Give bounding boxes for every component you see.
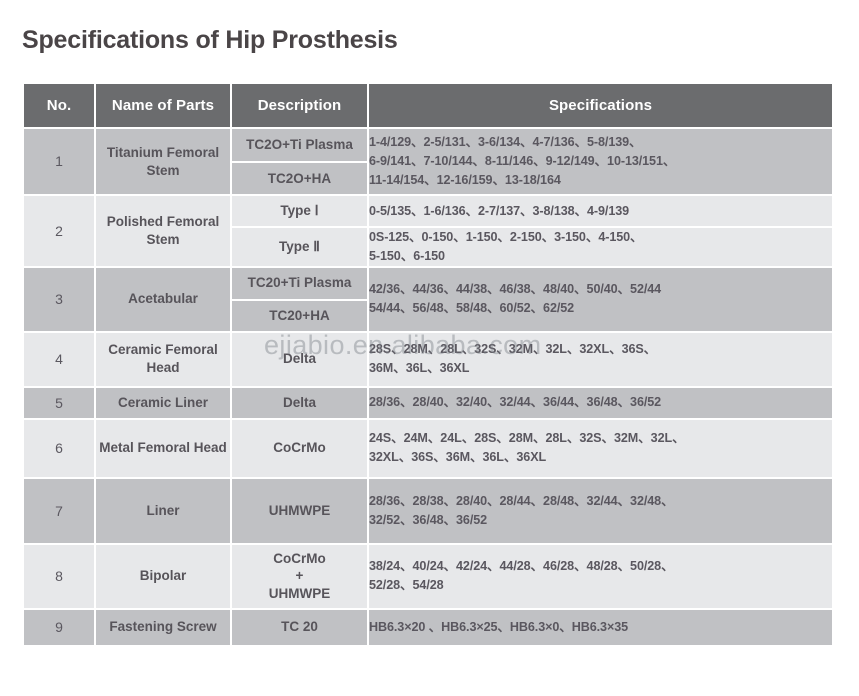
row-number: 1 <box>23 128 95 195</box>
part-name: Ceramic Liner <box>95 387 231 419</box>
part-description: TC20+HA <box>231 300 368 332</box>
part-specifications: HB6.3×20 、HB6.3×25、HB6.3×0、HB6.3×35 <box>368 609 833 646</box>
spec-line: 1-4/129、2-5/131、3-6/134、4-7/136、5-8/139、 <box>369 133 832 152</box>
row-number: 9 <box>23 609 95 646</box>
page-title: Specifications of Hip Prosthesis <box>22 26 398 55</box>
row-number: 8 <box>23 544 95 609</box>
spec-line: 11-14/154、12-16/159、13-18/164 <box>369 171 832 190</box>
part-name: Polished Femoral Stem <box>95 195 231 267</box>
part-name: Metal Femoral Head <box>95 419 231 478</box>
row-number: 6 <box>23 419 95 478</box>
part-description: Type Ⅰ <box>231 195 368 227</box>
part-description: TC 20 <box>231 609 368 646</box>
part-name-line1: Titanium <box>107 145 163 160</box>
table-row: 5 Ceramic Liner Delta 28/36、28/40、32/40、… <box>23 387 833 419</box>
spec-line: 6-9/141、7-10/144、8-11/146、9-12/149、10-13… <box>369 152 832 171</box>
part-description: Delta <box>231 332 368 387</box>
part-name-line1: Polished <box>107 214 163 229</box>
spec-line: 52/28、54/28 <box>369 576 832 595</box>
table-row: 4 Ceramic Femoral Head Delta 28S、28M、28L… <box>23 332 833 387</box>
column-header-no: No. <box>23 83 95 128</box>
table-row: 3 Acetabular TC20+Ti Plasma 42/36、44/36、… <box>23 267 833 300</box>
spec-line: 28S、28M、28L、32S、32M、32L、32XL、36S、 <box>369 340 832 359</box>
spec-line: 38/24、40/24、42/24、44/28、46/28、48/28、50/2… <box>369 557 832 576</box>
part-specifications: 24S、24M、24L、28S、28M、28L、32S、32M、32L、 32X… <box>368 419 833 478</box>
part-specifications: 38/24、40/24、42/24、44/28、46/28、48/28、50/2… <box>368 544 833 609</box>
specifications-table: No. Name of Parts Description Specificat… <box>22 82 834 647</box>
part-name: Fastening Screw <box>95 609 231 646</box>
table-body: 1 Titanium Femoral Stem TC2O+Ti Plasma 1… <box>23 128 833 646</box>
spec-line: 32/52、36/48、36/52 <box>369 511 832 530</box>
part-description: TC2O+Ti Plasma <box>231 128 368 162</box>
part-specifications: 28/36、28/40、32/40、32/44、36/44、36/48、36/5… <box>368 387 833 419</box>
part-specifications: 28S、28M、28L、32S、32M、32L、32XL、36S、 36M、36… <box>368 332 833 387</box>
part-name: Acetabular <box>95 267 231 332</box>
table-row: 2 Polished Femoral Stem Type Ⅰ 0-5/135、1… <box>23 195 833 227</box>
column-header-specifications: Specifications <box>368 83 833 128</box>
part-description: CoCrMo + UHMWPE <box>231 544 368 609</box>
table-row: 8 Bipolar CoCrMo + UHMWPE 38/24、40/24、42… <box>23 544 833 609</box>
part-description: CoCrMo <box>231 419 368 478</box>
row-number: 7 <box>23 478 95 544</box>
table-row: 7 Liner UHMWPE 28/36、28/38、28/40、28/44、2… <box>23 478 833 544</box>
spec-line: 0-5/135、1-6/136、2-7/137、3-8/138、4-9/139 <box>369 202 832 221</box>
spec-line: 24S、24M、24L、28S、28M、28L、32S、32M、32L、 <box>369 429 832 448</box>
part-name-line2: Femoral Head <box>138 440 227 455</box>
header-row: No. Name of Parts Description Specificat… <box>23 83 833 128</box>
part-description: Type Ⅱ <box>231 227 368 267</box>
part-specifications: 1-4/129、2-5/131、3-6/134、4-7/136、5-8/139、… <box>368 128 833 195</box>
part-name: Titanium Femoral Stem <box>95 128 231 195</box>
spec-line: 28/36、28/38、28/40、28/44、28/48、32/44、32/4… <box>369 492 832 511</box>
spec-line: 54/44、56/48、58/48、60/52、62/52 <box>369 299 832 318</box>
document-page: Specifications of Hip Prosthesis No. Nam… <box>0 0 859 696</box>
table-row: 1 Titanium Femoral Stem TC2O+Ti Plasma 1… <box>23 128 833 162</box>
row-number: 2 <box>23 195 95 267</box>
spec-line: 28/36、28/40、32/40、32/44、36/44、36/48、36/5… <box>369 393 832 412</box>
row-number: 3 <box>23 267 95 332</box>
row-number: 5 <box>23 387 95 419</box>
part-name: Bipolar <box>95 544 231 609</box>
part-specifications: 42/36、44/36、44/38、46/38、48/40、50/40、52/4… <box>368 267 833 332</box>
part-description: UHMWPE <box>231 478 368 544</box>
desc-line3: UHMWPE <box>232 585 367 603</box>
desc-line1: CoCrMo <box>232 550 367 568</box>
column-header-description: Description <box>231 83 368 128</box>
part-name-line1: Metal <box>99 440 134 455</box>
spec-line: 42/36、44/36、44/38、46/38、48/40、50/40、52/4… <box>369 280 832 299</box>
spec-line: 5-150、6-150 <box>369 247 832 266</box>
desc-line2: + <box>232 567 367 585</box>
part-name: Ceramic Femoral Head <box>95 332 231 387</box>
part-specifications: 0S-125、0-150、1-150、2-150、3-150、4-150、 5-… <box>368 227 833 267</box>
part-description: Delta <box>231 387 368 419</box>
spec-line: 32XL、36S、36M、36L、36XL <box>369 448 832 467</box>
part-description: TC2O+HA <box>231 162 368 195</box>
part-specifications: 0-5/135、1-6/136、2-7/137、3-8/138、4-9/139 <box>368 195 833 227</box>
column-header-name: Name of Parts <box>95 83 231 128</box>
row-number: 4 <box>23 332 95 387</box>
spec-line: 0S-125、0-150、1-150、2-150、3-150、4-150、 <box>369 228 832 247</box>
table-row: 6 Metal Femoral Head CoCrMo 24S、24M、24L、… <box>23 419 833 478</box>
part-name: Liner <box>95 478 231 544</box>
part-specifications: 28/36、28/38、28/40、28/44、28/48、32/44、32/4… <box>368 478 833 544</box>
table-row: 9 Fastening Screw TC 20 HB6.3×20 、HB6.3×… <box>23 609 833 646</box>
spec-line: 36M、36L、36XL <box>369 359 832 378</box>
part-description: TC20+Ti Plasma <box>231 267 368 300</box>
table-header: No. Name of Parts Description Specificat… <box>23 83 833 128</box>
part-name-line1: Ceramic <box>108 342 161 357</box>
spec-line: HB6.3×20 、HB6.3×25、HB6.3×0、HB6.3×35 <box>369 618 832 637</box>
